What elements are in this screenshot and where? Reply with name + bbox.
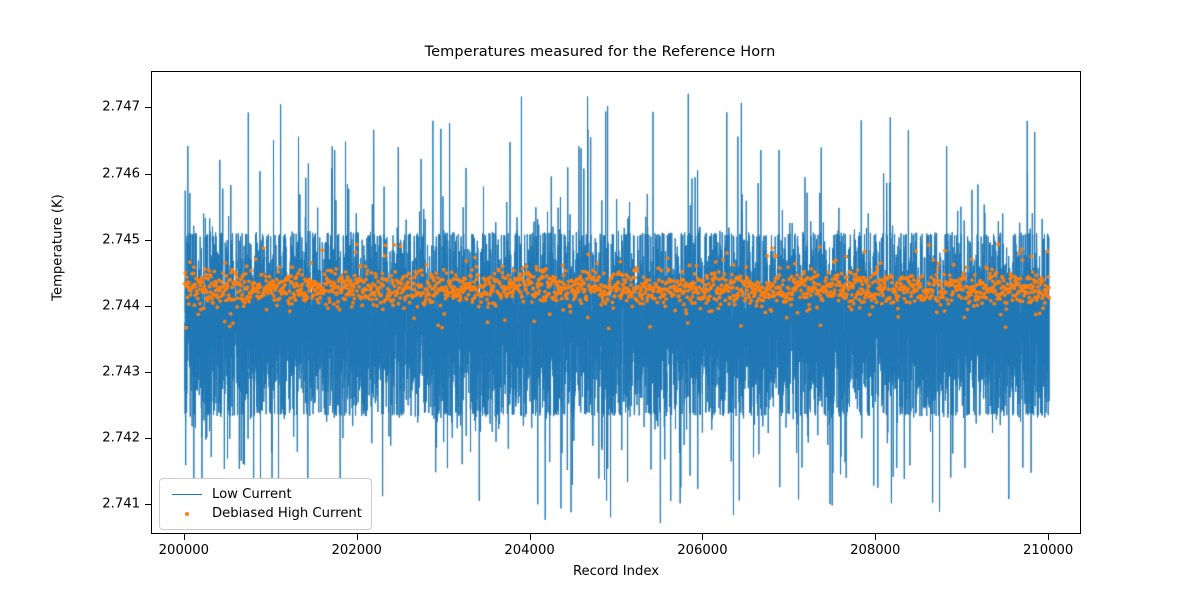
y-tick-label: 2.747: [58, 100, 140, 115]
y-tick-mark: [145, 306, 151, 307]
x-tick-label: 210000: [978, 543, 1118, 558]
y-tick-mark: [145, 504, 151, 505]
legend-dot-swatch-icon: [168, 512, 206, 516]
x-tick-label: 204000: [460, 543, 600, 558]
legend-item-debiased-high-current[interactable]: Debiased High Current: [168, 504, 362, 523]
x-tick-mark: [184, 534, 185, 540]
x-tick-label: 202000: [287, 543, 427, 558]
page-title: Temperatures measured for the Reference …: [0, 44, 1200, 60]
y-tick-mark: [145, 372, 151, 373]
legend-line-swatch-icon: [168, 494, 206, 495]
x-tick-mark: [702, 534, 703, 540]
legend-label: Debiased High Current: [206, 506, 362, 521]
legend-item-low-current[interactable]: Low Current: [168, 485, 362, 504]
x-tick-mark: [530, 534, 531, 540]
x-tick-label: 206000: [632, 543, 772, 558]
x-tick-label: 208000: [805, 543, 945, 558]
y-tick-label: 2.742: [58, 431, 140, 446]
y-tick-mark: [145, 438, 151, 439]
y-tick-label: 2.746: [58, 166, 140, 181]
x-tick-mark: [875, 534, 876, 540]
plot-area: [151, 71, 1081, 534]
y-axis-label: Temperature (K): [51, 0, 66, 498]
y-tick-mark: [145, 107, 151, 108]
matplotlib-figure: Temperatures measured for the Reference …: [0, 0, 1200, 600]
plot-canvas: [152, 72, 1081, 534]
y-tick-label: 2.744: [58, 298, 140, 313]
y-tick-label: 2.743: [58, 364, 140, 379]
legend-label: Low Current: [206, 487, 292, 502]
chart-legend[interactable]: Low Current Debiased High Current: [159, 478, 372, 530]
x-tick-mark: [357, 534, 358, 540]
x-tick-mark: [1048, 534, 1049, 540]
y-tick-label: 2.741: [58, 497, 140, 512]
y-tick-mark: [145, 174, 151, 175]
y-tick-label: 2.745: [58, 232, 140, 247]
x-axis-label: Record Index: [151, 564, 1081, 579]
x-tick-label: 200000: [114, 543, 254, 558]
y-tick-mark: [145, 240, 151, 241]
